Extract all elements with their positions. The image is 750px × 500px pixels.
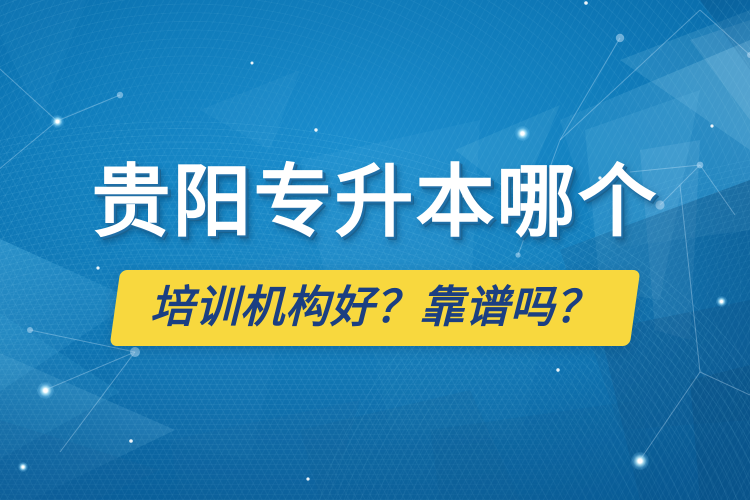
diagonal-line-texture-a [0, 0, 750, 500]
glow-dot-lower-left [18, 462, 28, 472]
glow-dot-far-right [716, 296, 727, 307]
horizontal-line-texture [0, 0, 750, 500]
promo-banner: 贵阳专升本哪个 培训机构好？靠谱吗？ [0, 0, 750, 500]
arc-texture-top-left [0, 0, 750, 500]
glow-dot-upper-right [515, 126, 530, 141]
glow-dot-mid-left [37, 382, 54, 399]
network-node-dots [0, 0, 750, 500]
page-title: 贵阳专升本哪个 [92, 163, 659, 242]
abstract-polygon-shapes [0, 0, 750, 500]
background-gradient [0, 0, 750, 500]
headline-container: 贵阳专升本哪个 [0, 163, 750, 242]
background-vignette [0, 0, 750, 500]
glow-dot-top-left [51, 115, 64, 128]
glow-dot-bottom-right [631, 452, 649, 470]
page-subtitle: 培训机构好？靠谱吗？ [150, 286, 600, 330]
subtitle-container: 培训机构好？靠谱吗？ [115, 270, 635, 346]
diagonal-line-texture-b [0, 0, 750, 500]
